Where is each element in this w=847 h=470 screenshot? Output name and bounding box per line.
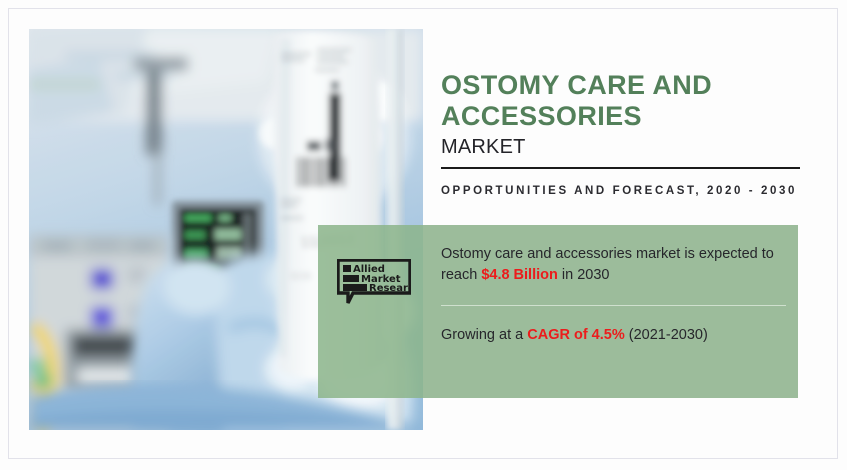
heading-divider <box>441 167 800 169</box>
logo-line-3: Research <box>369 283 411 294</box>
stat-suffix: (2021-2030) <box>625 327 708 343</box>
forecast-kicker: OPPORTUNITIES AND FORECAST, 2020 - 2030 <box>441 182 811 200</box>
stat-cagr: Growing at a CAGR of 4.5% (2021-2030) <box>441 325 781 346</box>
page-title: OSTOMY CARE AND ACCESSORIES <box>441 29 801 132</box>
panel-divider <box>441 305 786 306</box>
stat-market-size: Ostomy care and accessories market is ex… <box>441 244 781 286</box>
report-heading-block: OSTOMY CARE AND ACCESSORIES MARKET <box>441 29 801 159</box>
page-subtitle: MARKET <box>441 132 801 159</box>
stat-suffix: in 2030 <box>558 267 610 283</box>
stat-highlight: CAGR of 4.5% <box>527 327 625 343</box>
stat-prefix: Growing at a <box>441 327 527 343</box>
allied-market-research-logo: Allied Market Research <box>337 259 411 304</box>
stat-highlight: $4.8 Billion <box>481 267 558 283</box>
market-report-poster: 11/2012 6/16 OSTOMY CARE AND ACCESSORIES… <box>0 0 847 470</box>
